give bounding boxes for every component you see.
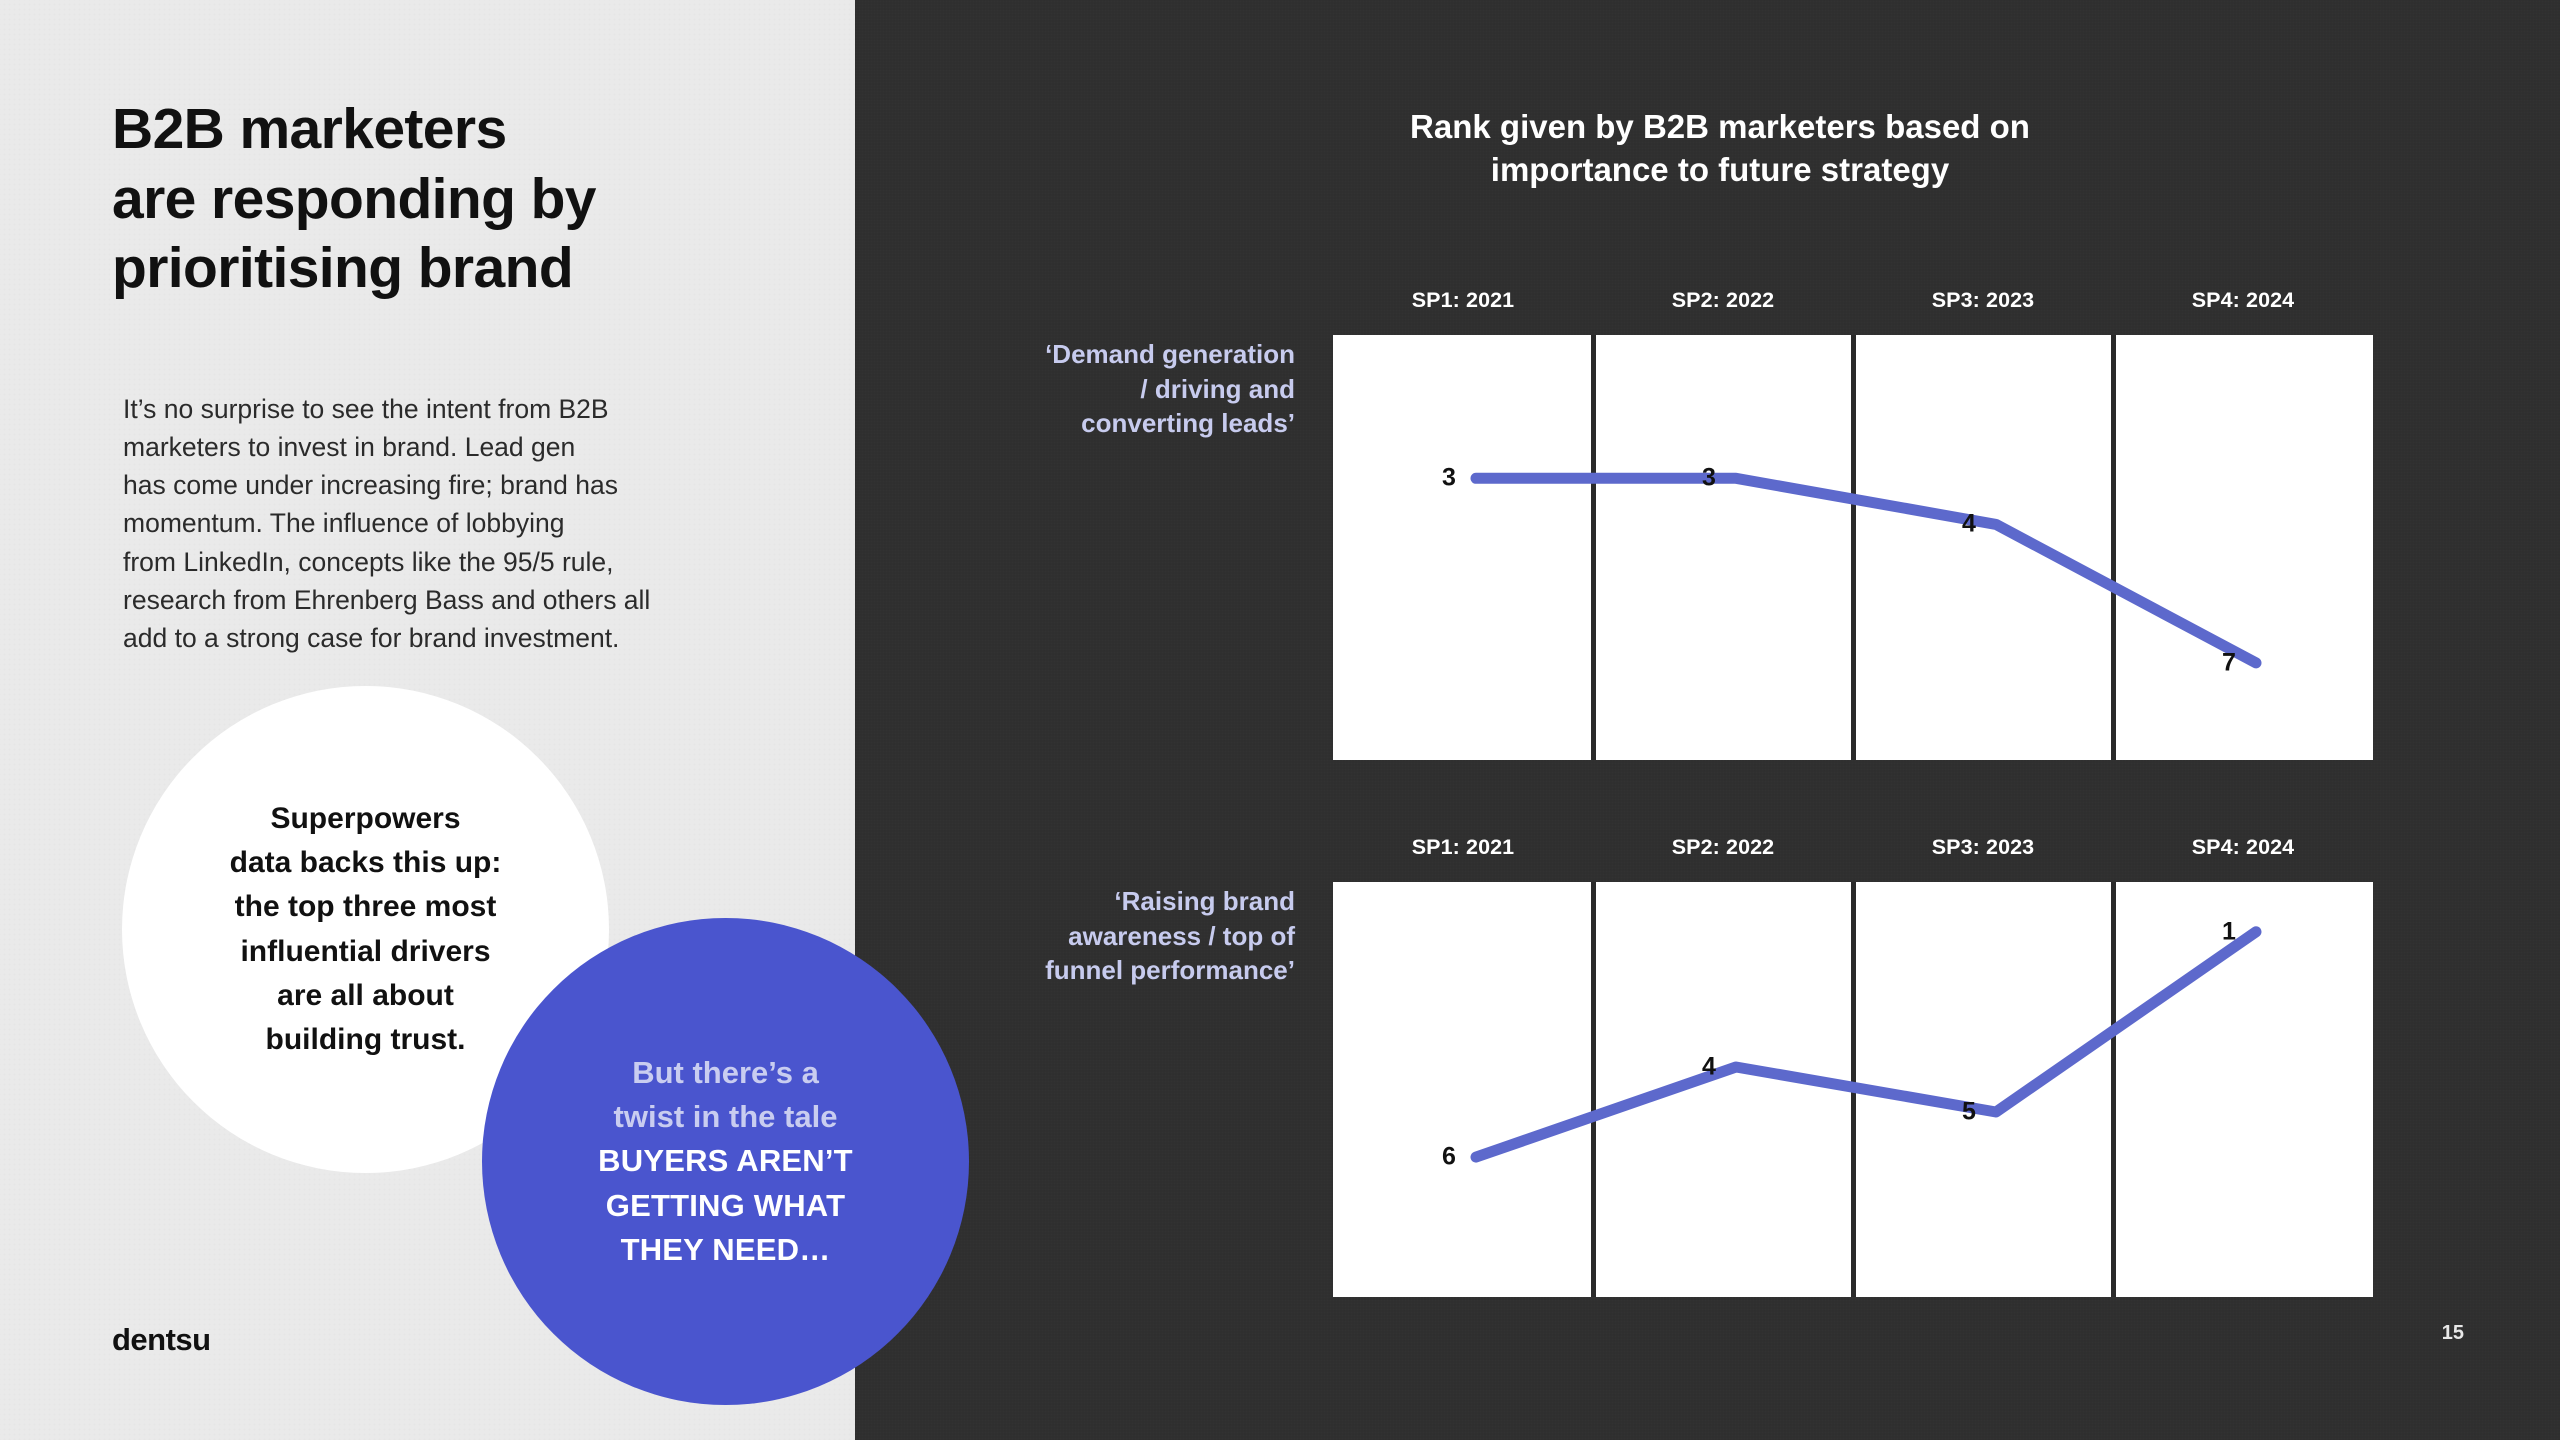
chart-bottom-series-label: ‘Raising brand awareness / top of funnel…: [995, 884, 1295, 988]
white-callout-text: Superpowers data backs this up: the top …: [181, 797, 551, 1062]
body-line-2: marketers to invest in brand. Lead gen: [123, 428, 743, 466]
blue-callout-lead-2: twist in the tale: [531, 1095, 921, 1139]
body-line-3: has come under increasing fire; brand ha…: [123, 466, 743, 504]
column-header-sp4: SP4: 2024: [2113, 288, 2373, 324]
blue-callout-lead-1: But there’s a: [531, 1051, 921, 1095]
chart-top-label-line-1: ‘Demand generation: [995, 337, 1295, 372]
body-line-4: momentum. The influence of lobbying: [123, 504, 743, 542]
chart-title-line-2: importance to future strategy: [1180, 148, 2260, 191]
chart-top-series-label: ‘Demand generation / driving and convert…: [995, 337, 1295, 441]
chart-top-label-line-3: converting leads’: [995, 406, 1295, 441]
chart-demand-generation: 3 3 4 7: [1333, 335, 2373, 760]
chart-bottom-value-label-2: 4: [1702, 1052, 1716, 1081]
white-callout-line-2: data backs this up:: [181, 841, 551, 885]
headline-line-2: are responding by: [112, 165, 752, 235]
chart-bottom-value-label-3: 5: [1962, 1098, 1976, 1127]
white-callout-line-3: the top three most: [181, 885, 551, 929]
chart-bottom-label-line-1: ‘Raising brand: [995, 884, 1295, 919]
chart-top-value-label-3: 4: [1962, 510, 1976, 539]
chart-top-value-label-2: 3: [1702, 464, 1716, 493]
chart-top-value-label-4: 7: [2222, 648, 2236, 677]
chart-top-plot-area: 3 3 4 7: [1333, 335, 2373, 760]
chart-raising-brand-awareness: 6 4 5 1: [1333, 882, 2373, 1297]
blue-callout-circle: But there’s a twist in the tale BUYERS A…: [482, 918, 969, 1405]
chart-bottom-value-label-4: 1: [2222, 917, 2236, 946]
body-line-7: add to a strong case for brand investmen…: [123, 619, 743, 657]
chart-bottom-value-label-1: 6: [1442, 1143, 1456, 1172]
body-line-6: research from Ehrenberg Bass and others …: [123, 581, 743, 619]
blue-callout-strong-3: THEY NEED…: [531, 1228, 921, 1272]
chart-top-line: [1333, 335, 2373, 760]
chart-top-label-line-2: / driving and: [995, 372, 1295, 407]
white-callout-line-5: are all about: [181, 974, 551, 1018]
chart-top-value-label-1: 3: [1442, 464, 1456, 493]
chart-bottom-plot-area: 6 4 5 1: [1333, 882, 2373, 1297]
blue-callout-text: But there’s a twist in the tale BUYERS A…: [531, 1051, 921, 1271]
chart-bottom-column-headers: SP1: 2021 SP2: 2022 SP3: 2023 SP4: 2024: [1333, 835, 2373, 871]
chart-title: Rank given by B2B marketers based on imp…: [1180, 105, 2260, 191]
body-paragraph: It’s no surprise to see the intent from …: [123, 390, 743, 657]
headline-line-1: B2B marketers: [112, 95, 752, 165]
chart-bottom-label-line-3: funnel performance’: [995, 953, 1295, 988]
headline-line-3: prioritising brand: [112, 234, 752, 304]
column-header-sp4-b: SP4: 2024: [2113, 835, 2373, 871]
page-title: B2B marketers are responding by prioriti…: [112, 95, 752, 304]
column-header-sp2-b: SP2: 2022: [1593, 835, 1853, 871]
page-number: 15: [2442, 1322, 2464, 1345]
white-callout-line-4: influential drivers: [181, 930, 551, 974]
white-callout-line-6: building trust.: [181, 1018, 551, 1062]
column-header-sp1: SP1: 2021: [1333, 288, 1593, 324]
chart-top-column-headers: SP1: 2021 SP2: 2022 SP3: 2023 SP4: 2024: [1333, 288, 2373, 324]
column-header-sp3: SP3: 2023: [1853, 288, 2113, 324]
body-line-1: It’s no surprise to see the intent from …: [123, 390, 743, 428]
blue-callout-strong-2: GETTING WHAT: [531, 1184, 921, 1228]
white-callout-line-1: Superpowers: [181, 797, 551, 841]
chart-title-line-1: Rank given by B2B marketers based on: [1180, 105, 2260, 148]
slide-root: B2B marketers are responding by prioriti…: [0, 0, 2560, 1440]
chart-bottom-line: [1333, 882, 2373, 1297]
column-header-sp2: SP2: 2022: [1593, 288, 1853, 324]
blue-callout-strong-1: BUYERS AREN’T: [531, 1139, 921, 1183]
column-header-sp1-b: SP1: 2021: [1333, 835, 1593, 871]
body-line-5: from LinkedIn, concepts like the 95/5 ru…: [123, 543, 743, 581]
chart-bottom-label-line-2: awareness / top of: [995, 919, 1295, 954]
column-header-sp3-b: SP3: 2023: [1853, 835, 2113, 871]
dentsu-logo: dentsu: [112, 1322, 211, 1358]
